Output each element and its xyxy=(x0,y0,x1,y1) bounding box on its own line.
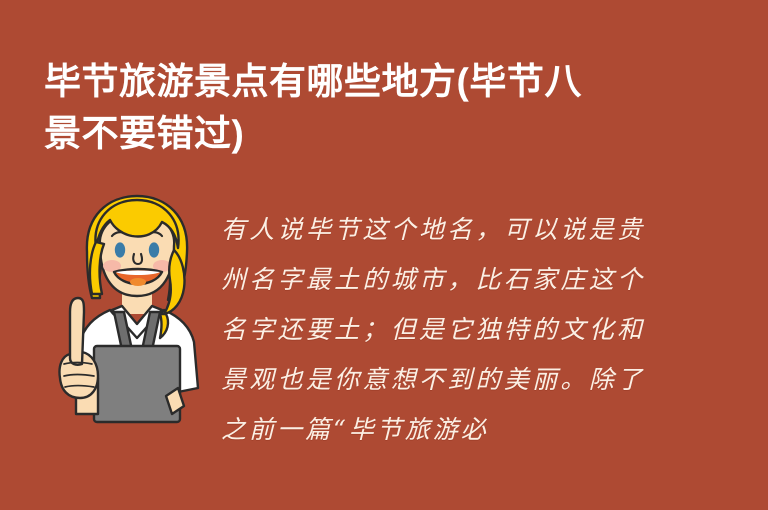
cartoon-girl-illustration xyxy=(52,192,222,428)
tongue xyxy=(130,278,146,286)
page-title: 毕节旅游景点有哪些地方(毕节八 景不要错过) xyxy=(44,56,684,160)
article-body-text: 有人说毕节这个地名，可以说是贵州名字最土的城市，比石家庄这个名字还要土；但是它独… xyxy=(221,205,645,455)
cartoon-girl-svg xyxy=(52,192,222,428)
index-finger-pointing-up-icon xyxy=(70,298,84,365)
eye-left-icon xyxy=(115,242,125,257)
overall-bib xyxy=(94,346,180,422)
article-card: 毕节旅游景点有哪些地方(毕节八 景不要错过) xyxy=(0,0,768,510)
eye-right-icon xyxy=(149,242,159,257)
